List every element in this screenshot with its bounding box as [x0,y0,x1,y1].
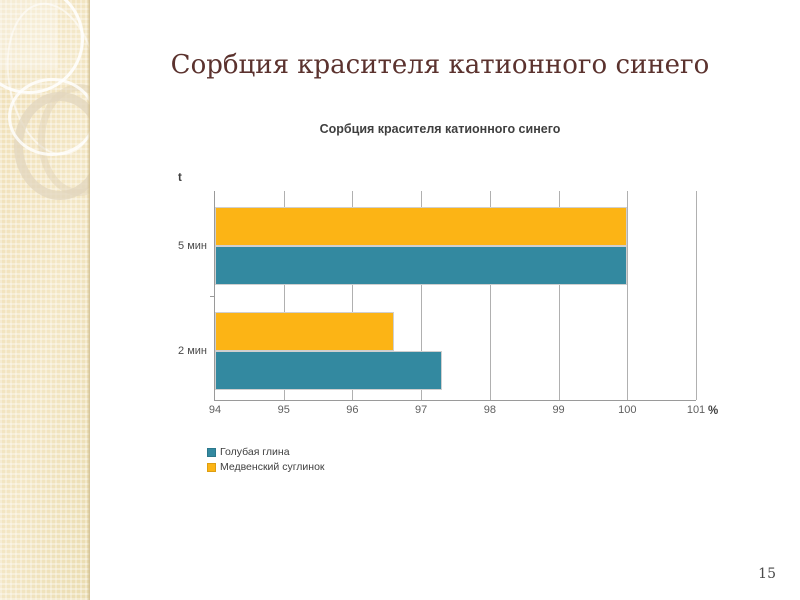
legend-item[interactable]: Голубая глина [207,445,325,459]
x-axis-title: % [708,405,718,417]
legend-swatch-icon [207,463,216,472]
gridline [627,191,628,400]
bar-chart: Сорбция красителя катионного синего t % … [130,110,750,490]
x-axis-tick-label: 99 [552,404,564,416]
legend-item[interactable]: Медвенский суглинок [207,460,325,474]
y-axis-tick [210,296,215,297]
y-axis-category-label: 5 мин [178,240,207,252]
chart-title: Сорбция красителя катионного синего [130,122,750,136]
x-axis-tick-label: 100 [618,404,636,416]
legend-item-label: Голубая глина [220,446,290,458]
chart-legend: Голубая глинаМедвенский суглинок [207,445,325,475]
y-axis-title: t [178,172,182,184]
decorative-sidebar [0,0,90,600]
bar-medvenskiy-suglinok [215,312,394,351]
plot-area: 9495969798991001012 мин5 мин [214,191,696,401]
x-axis-tick-label: 95 [278,404,290,416]
bar-goluboy-glina [215,351,442,390]
legend-swatch-icon [207,448,216,457]
bar-goluboy-glina [215,246,627,285]
ring-thin-decoration [8,78,90,156]
sidebar-edge-shadow [87,0,90,600]
x-axis-tick-label: 101 [687,404,705,416]
x-axis-tick-label: 98 [484,404,496,416]
x-axis-tick-label: 97 [415,404,427,416]
gridline [696,191,697,400]
page-number: 15 [758,566,776,582]
legend-item-label: Медвенский суглинок [220,461,325,473]
x-axis-tick-label: 96 [346,404,358,416]
y-axis-category-label: 2 мин [178,345,207,357]
x-axis-tick-label: 94 [209,404,221,416]
slide-title: Сорбция красителя катионного синего [130,50,750,80]
bar-medvenskiy-suglinok [215,207,627,246]
